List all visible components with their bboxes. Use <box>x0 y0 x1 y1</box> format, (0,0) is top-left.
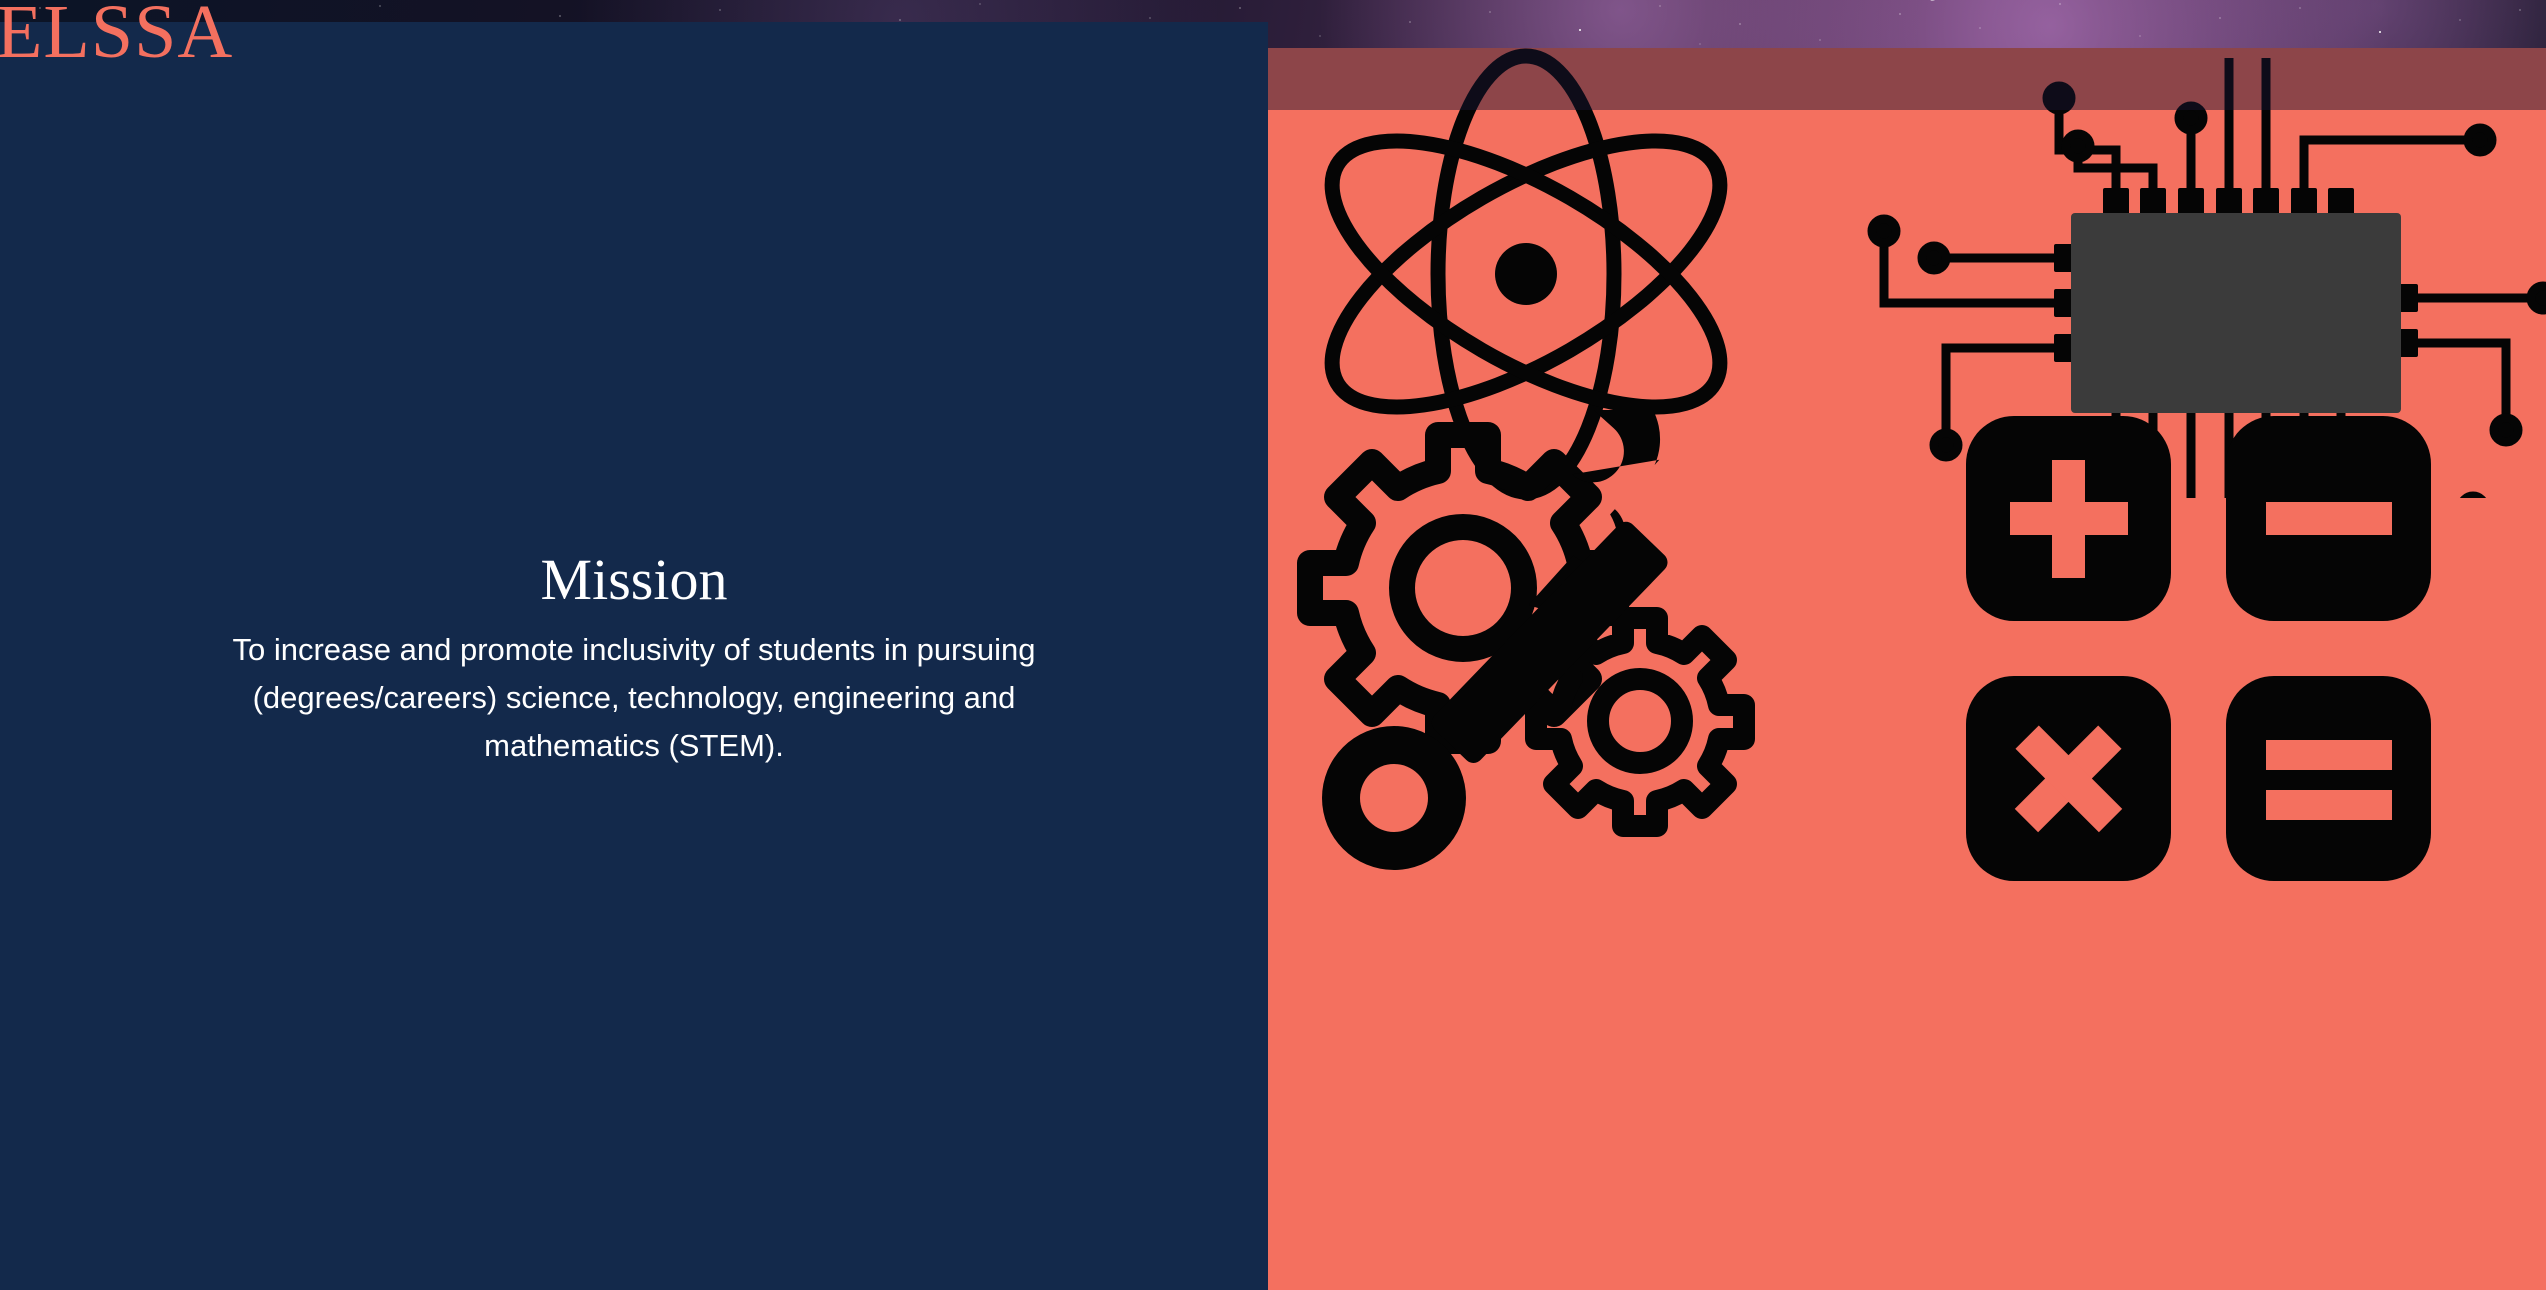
mission-heading: Mission <box>0 548 1268 612</box>
site-logo[interactable]: ELSSA <box>0 0 233 70</box>
mission-section: Mission To increase and promote inclusiv… <box>0 548 1268 770</box>
gears-wrench-icon <box>1286 410 1766 880</box>
navbar-overlay <box>1268 48 2546 110</box>
stem-graphic-panel <box>1268 48 2546 1290</box>
calculator-keys-icon <box>1958 408 2458 888</box>
page-root: Our Story Contact Us Board Members Donat… <box>0 0 2546 1290</box>
mission-body-text: To increase and promote inclusivity of s… <box>204 626 1064 770</box>
